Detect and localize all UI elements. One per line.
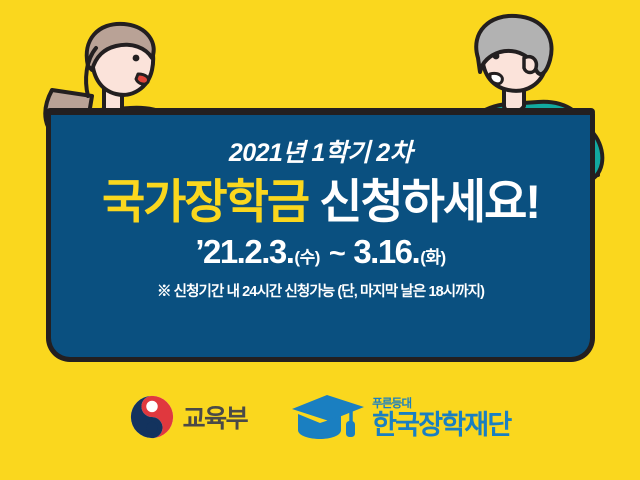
graduation-cap-icon xyxy=(289,392,367,447)
end-date: 3.16. xyxy=(353,235,419,268)
eyebrow-text: 2021년 1학기 2차 xyxy=(229,141,412,166)
headline-apply: 신청하세요! xyxy=(319,175,539,228)
taegeuk-emblem-icon xyxy=(130,395,174,444)
kosaf-main-label: 한국장학재단 xyxy=(372,412,510,439)
end-weekday: (화) xyxy=(420,249,445,266)
logo-ministry-of-education: 교육부 xyxy=(130,395,248,444)
start-date: ’21.2.3. xyxy=(195,235,293,268)
application-period: ’21.2.3.(수) ~ 3.16.(화) xyxy=(195,235,445,269)
footer-logos: 교육부 푸른등대 한국장학재단 xyxy=(0,382,640,456)
kosaf-sub-label: 푸른등대 xyxy=(372,399,510,411)
headline-scholarship: 국가장학금 xyxy=(102,175,308,228)
logo-kosaf: 푸른등대 한국장학재단 xyxy=(289,392,510,447)
notice-text: ※ 신청기간 내 24시간 신청가능 (단, 마지막 날은 18시까지) xyxy=(157,285,484,300)
start-weekday: (수) xyxy=(294,249,319,266)
kosaf-text-block: 푸른등대 한국장학재단 xyxy=(372,399,510,440)
headline: 국가장학금 신청하세요! xyxy=(102,178,539,226)
ministry-of-education-label: 교육부 xyxy=(183,407,248,432)
date-separator: ~ xyxy=(329,240,344,269)
scholarship-announcement-banner: 2021년 1학기 2차 국가장학금 신청하세요! ’21.2.3.(수) ~ … xyxy=(0,0,640,480)
announcement-panel: 2021년 1학기 2차 국가장학금 신청하세요! ’21.2.3.(수) ~ … xyxy=(46,110,595,362)
